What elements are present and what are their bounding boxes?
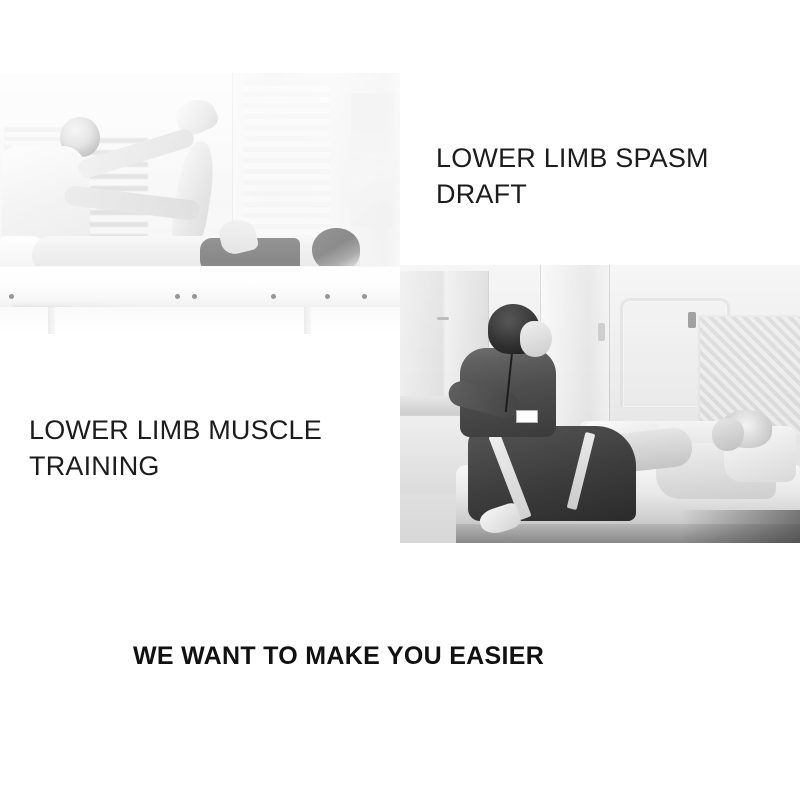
therapist-face: [520, 321, 552, 357]
wall-switch: [688, 312, 696, 328]
caption-lower-limb-spasm-draft: LOWER LIMB SPASM DRAFT: [436, 140, 766, 212]
photo-lower-limb-spasm: [0, 73, 400, 345]
table-leg: [304, 307, 311, 334]
table-bolt: [175, 294, 180, 299]
table-leg: [48, 307, 55, 334]
promo-page: LOWER LIMB SPASM DRAFT LOWER LIMB MUSCLE…: [0, 0, 800, 800]
table-bolt: [9, 294, 14, 299]
tagline-headline: WE WANT TO MAKE YOU EASIER: [133, 640, 544, 672]
photo-lower-limb-muscle-training: [400, 265, 800, 543]
patient-head: [312, 228, 360, 272]
elderly-patient-face: [712, 418, 744, 451]
table-bolt: [192, 294, 197, 299]
photo-bottom-right-scene: [400, 265, 800, 543]
photo-top-left-scene: [0, 73, 400, 345]
table-legs: [0, 307, 400, 345]
table-bolt: [325, 294, 330, 299]
caption-lower-limb-muscle-training: LOWER LIMB MUSCLE TRAINING: [29, 412, 379, 484]
bed-under-shadow: [680, 510, 800, 543]
id-badge: [516, 410, 538, 423]
table-bolt: [362, 294, 367, 299]
treatment-table: [0, 266, 400, 311]
table-bolt: [271, 294, 276, 299]
